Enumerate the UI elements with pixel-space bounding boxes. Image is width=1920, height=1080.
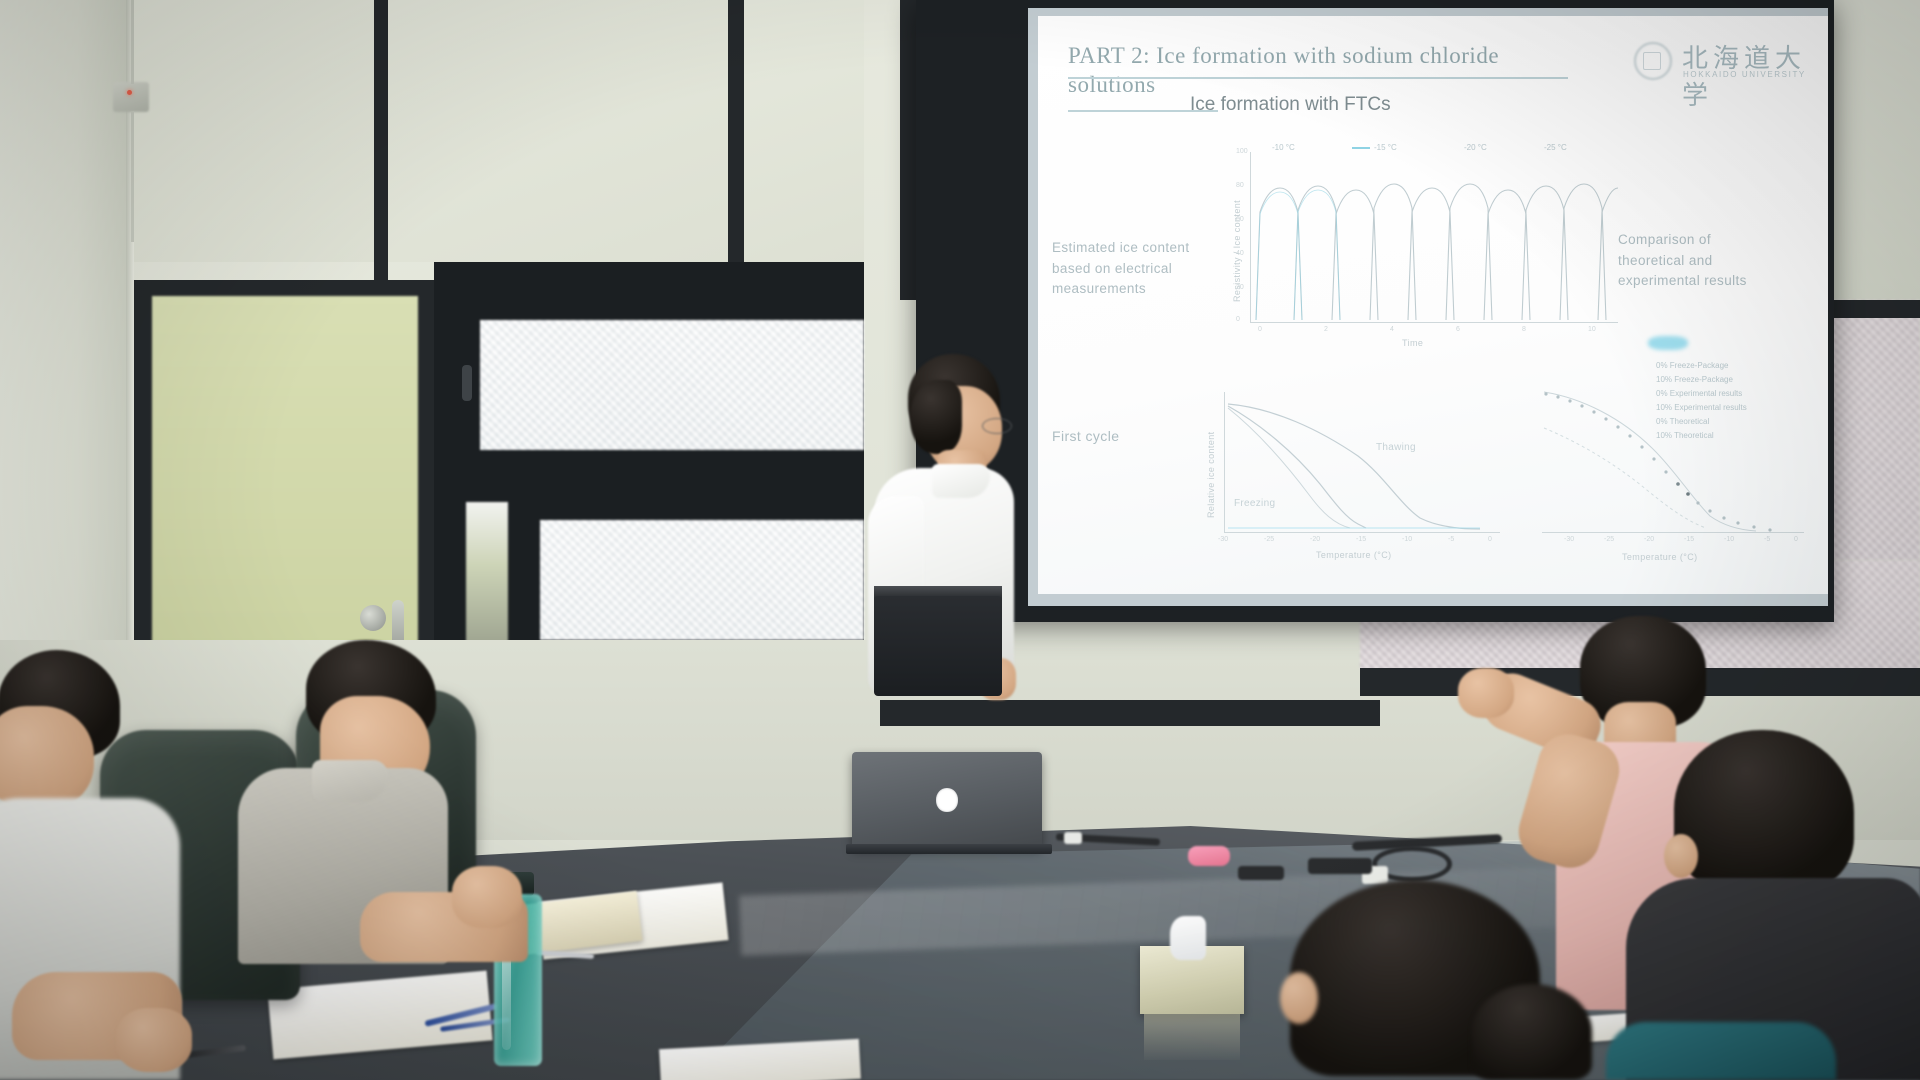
chart1-x-axis	[1250, 322, 1618, 323]
chart1-xtick-5: 10	[1588, 326, 1596, 333]
wall-frame-vertical-2	[728, 0, 744, 300]
wall-device	[113, 82, 149, 112]
wall-panel-upper-left	[134, 0, 374, 262]
laptop-base	[846, 844, 1052, 854]
pink-object	[1188, 846, 1230, 866]
wall-panel-upper-right	[744, 0, 864, 262]
chart1-ytick-1: 20	[1236, 284, 1244, 291]
chart1-xtick-0: 0	[1258, 326, 1262, 333]
chart2-xtick-2: -20	[1310, 536, 1320, 543]
chart1-xtick-1: 2	[1324, 326, 1328, 333]
chart-ftc-cycles: -10 °C -15 °C -20 °C -25 °C Resistivity …	[1206, 126, 1626, 356]
slide-title: PART 2: Ice formation with sodium chlori…	[1068, 42, 1568, 100]
tissue-box-reflection	[1144, 1014, 1240, 1060]
presenter-collar	[932, 464, 990, 498]
logo-english-text: HOKKAIDO UNIVERSITY	[1683, 70, 1806, 79]
wall-right-upper	[1830, 0, 1920, 300]
apple-logo-icon	[936, 788, 958, 812]
window-latch[interactable]	[462, 365, 472, 401]
tissue-box	[1140, 916, 1248, 1036]
attendee-partial-head-left	[1472, 984, 1592, 1080]
wall-frame-vertical-1	[374, 0, 388, 290]
attendee-teal-shirt	[1606, 1022, 1836, 1080]
wall-panel-upper-mid	[388, 0, 728, 262]
chart2-xtick-3: -15	[1356, 536, 1366, 543]
cable-adapter-black	[1238, 866, 1284, 880]
chart3-x-label: Temperature (°C)	[1622, 552, 1698, 562]
attendee2-collar	[312, 760, 388, 802]
chart1-legend-swatch	[1352, 147, 1370, 149]
presentation-slide: PART 2: Ice formation with sodium chlori…	[1038, 16, 1828, 594]
chart-theory-vs-experiment: 0% Freeze-Package 10% Freeze-Package 0% …	[1538, 356, 1828, 576]
slide-note-left: Estimated ice content based on electrica…	[1052, 238, 1192, 300]
chart2-xtick-4: -10	[1402, 536, 1412, 543]
chart1-xtick-4: 8	[1522, 326, 1526, 333]
slide-note-right-accent	[1648, 336, 1688, 350]
chart2-xtick-1: -25	[1264, 536, 1274, 543]
chart1-xtick-3: 6	[1456, 326, 1460, 333]
attendee4-ear	[1664, 834, 1698, 878]
wall-device-conduit	[131, 0, 134, 84]
presenter-glasses-icon	[982, 418, 1012, 434]
chart1-x-label: Time	[1402, 338, 1423, 348]
slide-subtitle: Ice formation with FTCs	[1190, 94, 1391, 116]
presenter-trousers	[874, 596, 1002, 696]
chart1-xtick-2: 4	[1390, 326, 1394, 333]
chart2-x-label: Temperature (°C)	[1316, 550, 1392, 560]
chart3-xtick-6: 0	[1794, 536, 1798, 543]
chart2-plot	[1224, 392, 1502, 532]
chart1-ytick-3: 60	[1236, 216, 1244, 223]
slide-note-first-cycle: First cycle	[1052, 426, 1202, 447]
attendee1-hand	[116, 1008, 192, 1072]
hokkaido-crest-inner-icon	[1643, 52, 1661, 70]
chart1-ytick-2: 40	[1236, 250, 1244, 257]
wall-device-conduit-lower	[131, 112, 134, 242]
attendee-white-tee	[0, 650, 206, 1080]
chart3-xtick-5: -5	[1764, 536, 1770, 543]
attendee5-ear	[1280, 972, 1318, 1024]
chart1-plot	[1250, 152, 1620, 322]
presenter-hair-side	[910, 380, 962, 454]
presenter	[860, 340, 1060, 760]
chart2-xtick-5: -5	[1448, 536, 1454, 543]
attendee2-hand	[452, 866, 522, 928]
chart1-ytick-0: 0	[1236, 316, 1240, 323]
slide-title-underline	[1068, 77, 1568, 79]
window-reflection-strip	[466, 502, 508, 652]
chart2-xtick-0: -30	[1218, 536, 1228, 543]
chart3-xtick-4: -10	[1724, 536, 1734, 543]
chart3-xtick-1: -25	[1604, 536, 1614, 543]
chart3-xtick-0: -30	[1564, 536, 1574, 543]
chart3-xtick-2: -20	[1644, 536, 1654, 543]
chart-ice-content-hysteresis: Relative ice content Temperature (°C) -3…	[1188, 386, 1528, 576]
chart1-ytick-4: 80	[1236, 182, 1244, 189]
slide-note-right: Comparison of theoretical and experiment…	[1618, 230, 1768, 292]
chart2-y-label: Relative ice content	[1206, 431, 1216, 518]
door-lock-icon[interactable]	[360, 605, 386, 631]
chart3-plot	[1542, 370, 1804, 534]
attendee1-face	[0, 706, 94, 810]
cable-connector-white-1	[1064, 832, 1082, 844]
attendee4-hair	[1674, 730, 1854, 894]
window-pane-lower	[540, 520, 864, 640]
chart1-ytick-5: 100	[1236, 148, 1248, 155]
attendee-grey-polo	[250, 640, 540, 980]
chart2-x-axis	[1224, 532, 1500, 533]
attendee3-pointing-hand	[1458, 668, 1514, 718]
meeting-room-photo: PART 2: Ice formation with sodium chlori…	[0, 0, 1920, 1080]
chart3-xtick-3: -15	[1684, 536, 1694, 543]
window-pane-upper	[480, 320, 864, 450]
cable-adapter-black-2	[1308, 858, 1372, 874]
wall-pillar-left	[0, 0, 128, 700]
laptop[interactable]	[852, 752, 1044, 862]
tissue-sheet	[1170, 916, 1206, 960]
wall-device-led-icon	[127, 90, 132, 95]
chart2-xtick-6: 0	[1488, 536, 1492, 543]
